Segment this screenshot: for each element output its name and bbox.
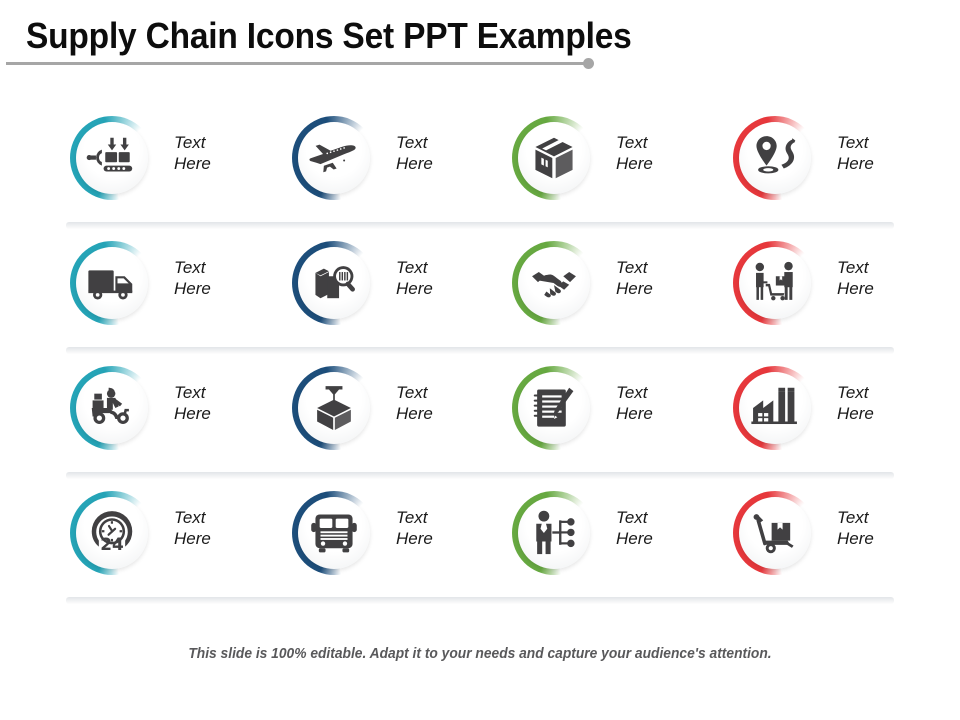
icon-disc xyxy=(298,122,370,194)
icon-item[interactable]: Text Here xyxy=(220,354,440,479)
icon-disc xyxy=(518,497,590,569)
icon-label: Text Here xyxy=(837,507,874,549)
icon-item[interactable]: Text Here xyxy=(0,354,220,479)
icon-item[interactable]: Text Here xyxy=(220,104,440,229)
icon-item[interactable]: Text Here xyxy=(660,104,880,229)
icon-disc xyxy=(739,497,811,569)
icon-item[interactable]: Text Here xyxy=(220,479,440,604)
icon-label: Text Here xyxy=(837,132,874,174)
notepad-pen-icon xyxy=(527,381,581,435)
icon-label: Text Here xyxy=(616,382,653,424)
icon-item[interactable]: Text Here xyxy=(0,104,220,229)
icon-label: Text Here xyxy=(837,257,874,299)
page-title: Supply Chain Icons Set PPT Examples xyxy=(26,14,632,58)
icon-badge[interactable] xyxy=(512,366,596,450)
icon-disc xyxy=(76,372,148,444)
icon-label: Text Here xyxy=(616,507,653,549)
icon-row: Text Here Text Here Text Here Text Here xyxy=(0,104,960,229)
icon-badge[interactable] xyxy=(292,241,376,325)
icon-disc xyxy=(518,247,590,319)
clock-24-hours-icon: 24 xyxy=(85,506,139,560)
icon-badge[interactable] xyxy=(70,366,154,450)
package-box-icon xyxy=(527,131,581,185)
conveyor-belt-icon xyxy=(85,131,139,185)
icon-disc xyxy=(518,122,590,194)
icon-badge[interactable] xyxy=(733,366,817,450)
icon-disc xyxy=(298,372,370,444)
icon-label: Text Here xyxy=(837,382,874,424)
icon-label: Text Here xyxy=(396,257,433,299)
icon-disc xyxy=(76,247,148,319)
icon-item[interactable]: Text Here xyxy=(440,354,660,479)
icon-badge[interactable] xyxy=(70,116,154,200)
handshake-icon xyxy=(527,256,581,310)
icon-disc xyxy=(298,247,370,319)
icon-item[interactable]: 24 Text Here xyxy=(0,479,220,604)
icon-badge[interactable] xyxy=(292,491,376,575)
icon-badge[interactable] xyxy=(292,366,376,450)
icon-label: Text Here xyxy=(616,132,653,174)
icon-disc xyxy=(739,247,811,319)
bus-icon xyxy=(307,506,361,560)
icon-item[interactable]: Text Here xyxy=(0,229,220,354)
icon-disc xyxy=(739,372,811,444)
icon-disc xyxy=(76,122,148,194)
icon-item[interactable]: Text Here xyxy=(660,479,880,604)
icon-row: Text Here Text Here Text Here xyxy=(0,354,960,479)
icon-badge[interactable] xyxy=(512,241,596,325)
icon-grid: Text Here Text Here Text Here Text Here xyxy=(0,104,960,604)
package-search-icon xyxy=(307,256,361,310)
icon-item[interactable]: Text Here xyxy=(220,229,440,354)
customer-delivery-icon xyxy=(748,256,802,310)
icon-disc xyxy=(518,372,590,444)
icon-item[interactable]: Text Here xyxy=(440,479,660,604)
icon-disc: 24 xyxy=(76,497,148,569)
title-divider-dot xyxy=(583,58,594,69)
location-pin-road-icon xyxy=(748,131,802,185)
factory-icon xyxy=(748,381,802,435)
icon-badge[interactable] xyxy=(733,241,817,325)
icon-row: 24 Text Here Text Here xyxy=(0,479,960,604)
org-chart-person-icon xyxy=(527,506,581,560)
airplane-icon xyxy=(307,131,361,185)
icon-disc xyxy=(739,122,811,194)
icon-label: Text Here xyxy=(174,257,211,299)
icon-label: Text Here xyxy=(174,132,211,174)
icon-badge[interactable] xyxy=(292,116,376,200)
crane-hook-cube-icon xyxy=(307,381,361,435)
icon-badge[interactable] xyxy=(733,116,817,200)
delivery-truck-icon xyxy=(85,256,139,310)
row-separator xyxy=(66,597,894,604)
icon-label: Text Here xyxy=(174,507,211,549)
row-separator xyxy=(66,472,894,479)
icon-badge[interactable]: 24 xyxy=(70,491,154,575)
icon-item[interactable]: Text Here xyxy=(660,229,880,354)
icon-row: Text Here Text Here Text Here xyxy=(0,229,960,354)
icon-item[interactable]: Text Here xyxy=(440,229,660,354)
icon-disc xyxy=(298,497,370,569)
svg-text:24: 24 xyxy=(100,534,123,554)
icon-badge[interactable] xyxy=(512,116,596,200)
icon-item[interactable]: Text Here xyxy=(440,104,660,229)
icon-label: Text Here xyxy=(396,132,433,174)
scooter-courier-icon xyxy=(85,381,139,435)
icon-badge[interactable] xyxy=(70,241,154,325)
row-separator xyxy=(66,222,894,229)
icon-badge[interactable] xyxy=(733,491,817,575)
footer-note: This slide is 100% editable. Adapt it to… xyxy=(38,645,921,662)
icon-badge[interactable] xyxy=(512,491,596,575)
icon-label: Text Here xyxy=(396,507,433,549)
icon-label: Text Here xyxy=(174,382,211,424)
icon-label: Text Here xyxy=(396,382,433,424)
title-divider xyxy=(6,62,589,65)
icon-item[interactable]: Text Here xyxy=(660,354,880,479)
row-separator xyxy=(66,347,894,354)
icon-label: Text Here xyxy=(616,257,653,299)
hand-truck-icon xyxy=(748,506,802,560)
